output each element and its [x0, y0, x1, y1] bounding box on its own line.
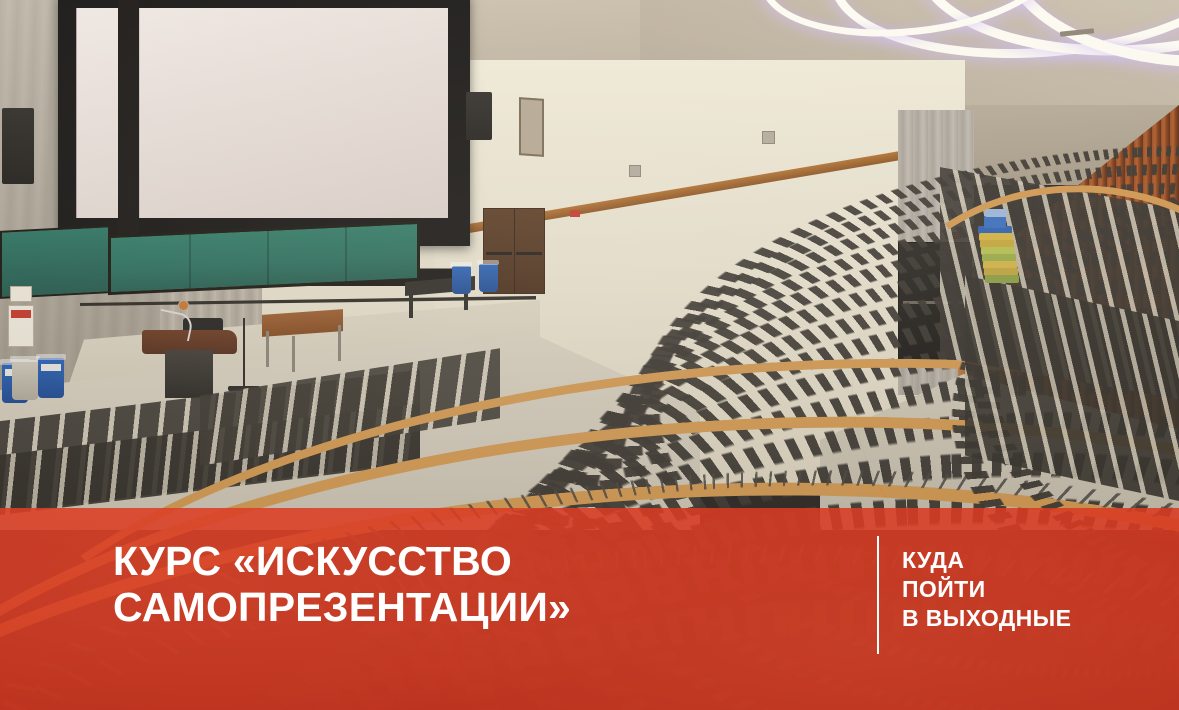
- promo-banner: КУРС «ИСКУССТВО САМОПРЕЗЕНТАЦИИ» КУДА ПО…: [0, 0, 1179, 710]
- band-sheen: [0, 508, 1179, 710]
- red-overlay-band: [0, 508, 1179, 710]
